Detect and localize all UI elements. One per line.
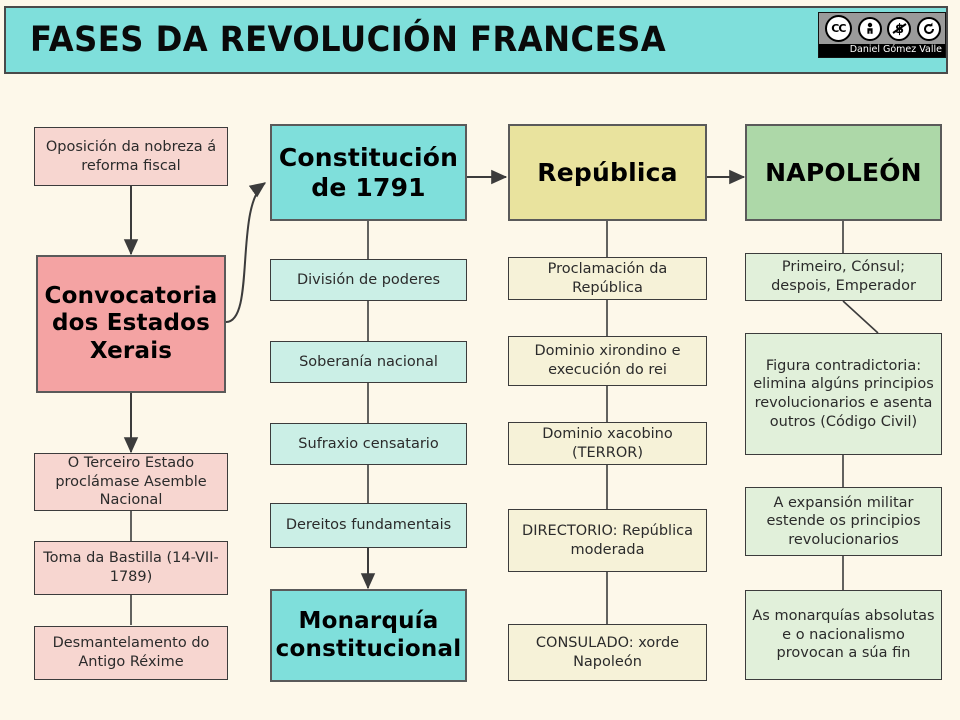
- node-dereitos-fundamentais[interactable]: Dereitos fundamentais: [270, 503, 467, 548]
- node-desmantelamento-antigo-rexime[interactable]: Desmantelamento do Antigo Réxime: [34, 626, 228, 680]
- node-soberania-nacional[interactable]: Soberanía nacional: [270, 341, 467, 383]
- node-convocatoria-estados-xerais[interactable]: Convocatoria dos Estados Xerais: [36, 255, 226, 393]
- circular-arrow-glyph: [921, 21, 937, 37]
- by-person-icon: [858, 17, 882, 41]
- node-terceiro-estado[interactable]: O Terceiro Estado proclámase Asemble Nac…: [34, 453, 228, 511]
- creative-commons-badge: CC $ Daniel Gómez Valle: [818, 12, 946, 58]
- node-napoleon[interactable]: NAPOLEÓN: [745, 124, 942, 221]
- node-toma-bastilla[interactable]: Toma da Bastilla (14-VII-1789): [34, 541, 228, 595]
- node-monarquias-absolutas[interactable]: As monarquías absolutas e o nacionalismo…: [745, 590, 942, 680]
- node-expansion-militar[interactable]: A expansión militar estende os principio…: [745, 487, 942, 556]
- wire-c4-consul-to-figura: [843, 301, 878, 333]
- node-directorio[interactable]: DIRECTORIO: República moderada: [508, 509, 707, 572]
- cc-icon-row: CC $: [819, 13, 946, 44]
- node-dominio-xacobino-terror[interactable]: Dominio xacobino (TERROR): [508, 422, 707, 465]
- node-oposicion-nobreza[interactable]: Oposición da nobreza á reforma fiscal: [34, 127, 228, 186]
- node-primeiro-consul[interactable]: Primeiro, Cónsul; despois, Emperador: [745, 253, 942, 301]
- wire-convocatoria-to-constitucion: [226, 183, 265, 322]
- badge-author: Daniel Gómez Valle: [819, 42, 946, 57]
- node-monarquia-constitucional[interactable]: Monarquía constitucional: [270, 589, 467, 682]
- title-bar: FASES DA REVOLUCIÓN FRANCESA: [4, 6, 948, 74]
- nc-dollar-icon: $: [887, 17, 911, 41]
- node-sufraxio-censatario[interactable]: Sufraxio censatario: [270, 423, 467, 465]
- dollar-slash-glyph: $: [891, 20, 908, 37]
- diagram-canvas: FASES DA REVOLUCIÓN FRANCESA CC $: [0, 0, 960, 720]
- sa-share-alike-icon: [917, 17, 941, 41]
- node-figura-contradictoria[interactable]: Figura contradictoria: elimina algúns pr…: [745, 333, 942, 455]
- node-division-poderes[interactable]: División de poderes: [270, 259, 467, 301]
- node-constitucion-1791[interactable]: Constitución de 1791: [270, 124, 467, 221]
- node-consulado[interactable]: CONSULADO: xorde Napoleón: [508, 624, 707, 681]
- person-glyph: [862, 21, 878, 37]
- node-republica[interactable]: República: [508, 124, 707, 221]
- cc-icon: CC: [825, 15, 852, 42]
- node-proclamacion-republica[interactable]: Proclamación da República: [508, 257, 707, 300]
- node-dominio-xirondino[interactable]: Dominio xirondino e execución do rei: [508, 336, 707, 386]
- page-title: FASES DA REVOLUCIÓN FRANCESA: [30, 20, 666, 60]
